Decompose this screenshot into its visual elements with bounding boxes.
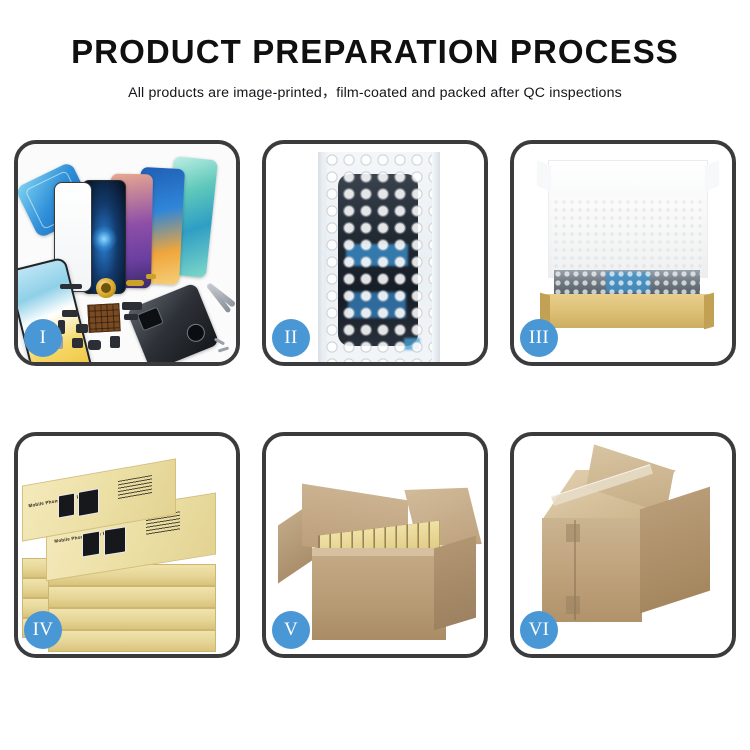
camera-module-part: [122, 302, 142, 310]
carton-front-face: [542, 518, 642, 622]
process-step-1: I: [14, 140, 240, 366]
box-screen-print: [58, 493, 75, 519]
button-part: [76, 324, 88, 333]
carton-flap-tab: [566, 596, 580, 614]
retail-box: [48, 586, 216, 608]
process-step-2: II: [262, 140, 488, 366]
step-badge-3: III: [520, 319, 558, 357]
process-step-5: V: [262, 432, 488, 658]
flex-cable-part: [146, 274, 156, 279]
retail-box: [48, 608, 216, 630]
screw-tray-part: [87, 303, 120, 333]
vibration-motor-part: [96, 278, 116, 298]
step-badge-6: VI: [520, 611, 558, 649]
bubble-texture-outline: [324, 152, 432, 362]
process-step-3: III: [510, 140, 736, 366]
step-badge-4: IV: [24, 611, 62, 649]
carton-body: [312, 556, 446, 640]
spare-part-strip: [60, 284, 82, 289]
box-screen-print: [82, 531, 100, 558]
carton-side-face: [640, 487, 710, 614]
page-title: PRODUCT PREPARATION PROCESS: [0, 34, 750, 71]
flex-cable-part: [126, 280, 144, 286]
earpiece-part: [88, 340, 101, 350]
box-screen-print: [78, 488, 99, 517]
step-badge-1: I: [24, 319, 62, 357]
carton-flap-tab: [566, 524, 580, 542]
foam-lining: [552, 198, 702, 274]
carton-side: [434, 536, 476, 631]
page-subtitle: All products are image-printed，film-coat…: [0, 82, 750, 102]
connector-part: [62, 310, 78, 317]
process-step-4: Mobile Phone Spare Parts Mobile Phone Sp…: [14, 432, 240, 658]
header: PRODUCT PREPARATION PROCESS All products…: [0, 34, 750, 102]
kraft-box-front: [546, 294, 708, 328]
packed-screens-bubble-texture: [554, 270, 700, 296]
step-badge-2: II: [272, 319, 310, 357]
step-badge-5: V: [272, 611, 310, 649]
infographic-page: PRODUCT PREPARATION PROCESS All products…: [0, 0, 750, 750]
retail-box: [48, 630, 216, 652]
box-screen-print: [104, 526, 126, 555]
sensor-part: [124, 314, 138, 320]
process-step-grid: I II: [14, 140, 736, 658]
process-step-6: VI: [510, 432, 736, 658]
battery-connector-part: [110, 336, 120, 348]
speaker-part: [72, 338, 83, 348]
